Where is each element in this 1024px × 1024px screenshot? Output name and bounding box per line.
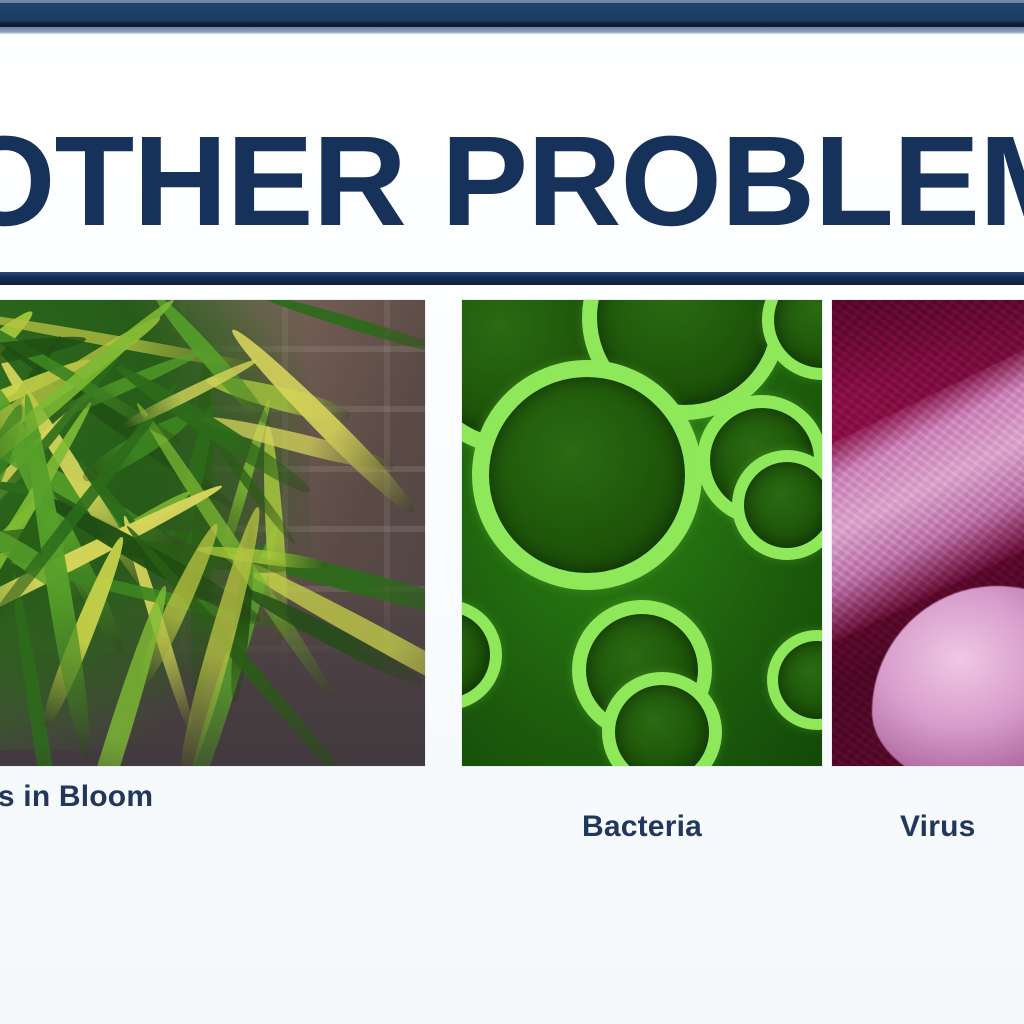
caption-plant: Leaves in Bloom — [0, 780, 305, 814]
bacterium-cell — [472, 360, 702, 590]
slide-bottom-border — [0, 988, 1024, 1024]
presentation-slide: OTHER PROBLEMS Leaves in Bloom Bacteria — [0, 0, 1024, 1024]
bacterium-cell — [462, 600, 502, 710]
figure-bacteria: Bacteria — [462, 300, 822, 766]
title-block: OTHER PROBLEMS — [0, 60, 1024, 230]
slide-top-border — [0, 0, 1024, 34]
bacterium-cell — [767, 630, 822, 730]
plant-photo — [0, 300, 425, 766]
caption-virus: Virus — [900, 810, 1024, 844]
virus-micrograph — [832, 300, 1024, 766]
caption-bacteria: Bacteria — [462, 810, 822, 844]
figure-plant: Leaves in Bloom — [0, 300, 425, 766]
figure-virus: Virus — [832, 300, 1024, 766]
page-title: OTHER PROBLEMS — [0, 118, 1024, 246]
bacteria-micrograph — [462, 300, 822, 766]
title-underline-rule — [0, 272, 1024, 285]
figure-row: Leaves in Bloom Bacteria Virus — [0, 300, 1024, 860]
